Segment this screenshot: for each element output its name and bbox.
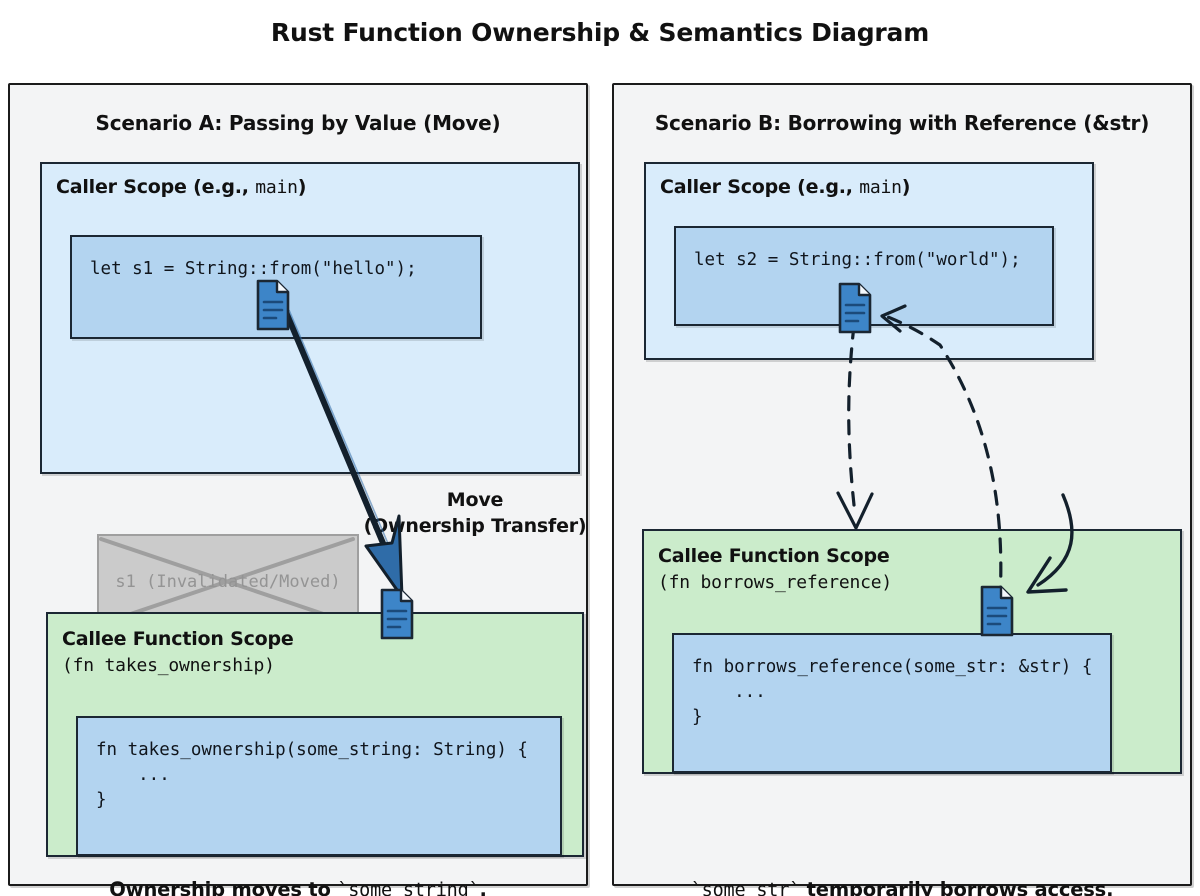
scenario-b-caller-code-box: let s2 = String::from("world");: [674, 226, 1054, 326]
caller-heading-mono: main: [859, 177, 902, 198]
diagram-canvas: Rust Function Ownership & Semantics Diag…: [0, 0, 1200, 896]
scenario-a-callee-code: fn takes_ownership(some_string: String) …: [96, 738, 528, 813]
scenario-b-callee-heading: Callee Function Scope(fn borrows_referen…: [658, 543, 892, 596]
scenario-b-callee-code-box: fn borrows_reference(some_str: &str) { .…: [672, 633, 1112, 773]
scenario-a-callee-scope: Callee Function Scope(fn takes_ownership…: [46, 612, 584, 857]
scenario-b-caller-code: let s2 = String::from("world");: [694, 248, 1021, 273]
caption-a-l1a: Ownership moves to: [109, 878, 337, 896]
scenario-a-title: Scenario A: Passing by Value (Move): [10, 111, 586, 135]
scenario-a-caller-scope: Caller Scope (e.g., main) let s1 = Strin…: [40, 162, 580, 474]
caption-b-l1code: `some_str`: [691, 880, 800, 896]
scenario-a-callee-code-box: fn takes_ownership(some_string: String) …: [76, 716, 562, 856]
scenario-a-caller-code-box: let s1 = String::from("hello");: [70, 235, 482, 339]
caller-heading-main: Caller Scope (e.g.,: [660, 176, 859, 198]
callee-heading-mono: (fn borrows_reference): [658, 572, 892, 593]
scenario-b-caption: `some_str` temporarily borrows access.`s…: [614, 875, 1190, 896]
scenario-b-callee-code: fn borrows_reference(some_str: &str) { .…: [692, 655, 1092, 730]
callee-heading-main: Callee Function Scope: [658, 545, 890, 567]
callee-heading-main: Callee Function Scope: [62, 628, 294, 650]
scenario-b-title: Scenario B: Borrowing with Reference (&s…: [614, 111, 1190, 135]
scenario-b-panel: Scenario B: Borrowing with Reference (&s…: [612, 83, 1192, 886]
move-arrow-label: Move(Ownership Transfer): [352, 487, 598, 539]
scenario-a-caption: Ownership moves to `some_string`.`s1` is…: [10, 875, 586, 896]
scenario-a-callee-heading: Callee Function Scope(fn takes_ownership…: [62, 626, 294, 679]
caption-a-l1code: `some_string`: [337, 880, 479, 896]
caption-b-l1b: temporarily borrows access.: [800, 878, 1113, 896]
scenario-b-caller-heading: Caller Scope (e.g., main): [660, 176, 910, 198]
scenario-a-caller-code: let s1 = String::from("hello");: [90, 257, 417, 282]
page-title: Rust Function Ownership & Semantics Diag…: [0, 18, 1200, 47]
move-label-line2: (Ownership Transfer): [364, 515, 587, 537]
move-label-line1: Move: [447, 489, 503, 511]
scenario-b-caller-scope: Caller Scope (e.g., main) let s2 = Strin…: [644, 162, 1094, 360]
scenario-b-callee-scope: Callee Function Scope(fn borrows_referen…: [642, 529, 1182, 774]
caller-heading-mono: main: [255, 177, 298, 198]
caption-a-l1b: .: [479, 878, 486, 896]
scenario-a-panel: Scenario A: Passing by Value (Move) Call…: [8, 83, 588, 886]
caller-heading-tail: ): [298, 176, 306, 198]
caller-heading-main: Caller Scope (e.g.,: [56, 176, 255, 198]
caller-heading-tail: ): [902, 176, 910, 198]
callee-heading-mono: (fn takes_ownership): [62, 655, 275, 676]
scenario-a-caller-heading: Caller Scope (e.g., main): [56, 176, 306, 198]
